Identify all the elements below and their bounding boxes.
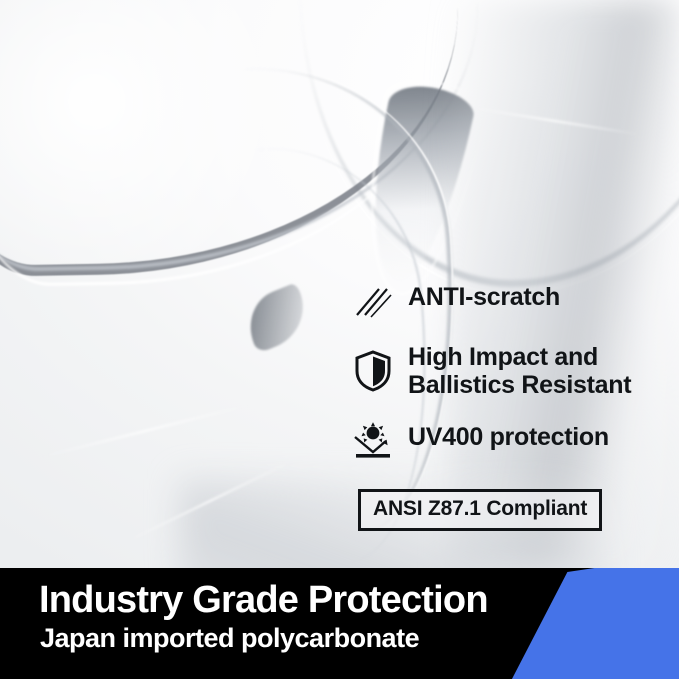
ansi-compliance-badge: ANSI Z87.1 Compliant <box>358 489 602 531</box>
uv-sun-reflect-icon <box>352 418 394 464</box>
feature-item-anti-scratch: ANTI-scratch <box>352 278 662 324</box>
feature-label-line2: Ballistics Resistant <box>408 371 631 399</box>
feature-item-high-impact: High Impact andBallistics Resistant <box>352 342 662 400</box>
scratch-lines-icon <box>352 278 394 324</box>
feature-item-uv400: UV400 protection <box>352 418 662 464</box>
shield-icon <box>352 342 394 400</box>
feature-label-high-impact: High Impact andBallistics Resistant <box>408 342 631 399</box>
feature-label-line1: High Impact and <box>408 343 598 371</box>
banner-accent-shape <box>499 568 679 679</box>
bottom-banner: Industry Grade Protection Japan imported… <box>0 568 679 679</box>
feature-label-uv400: UV400 protection <box>408 418 609 451</box>
feature-label-anti-scratch: ANTI-scratch <box>408 278 560 311</box>
banner-title: Industry Grade Protection <box>39 581 488 619</box>
banner-subtitle: Japan imported polycarbonate <box>40 625 419 652</box>
ansi-badge-label: ANSI Z87.1 Compliant <box>373 497 587 520</box>
feature-list: ANTI-scratch High Impact andBallistics R… <box>352 278 662 482</box>
product-feature-image: ANTI-scratch High Impact andBallistics R… <box>0 0 679 679</box>
